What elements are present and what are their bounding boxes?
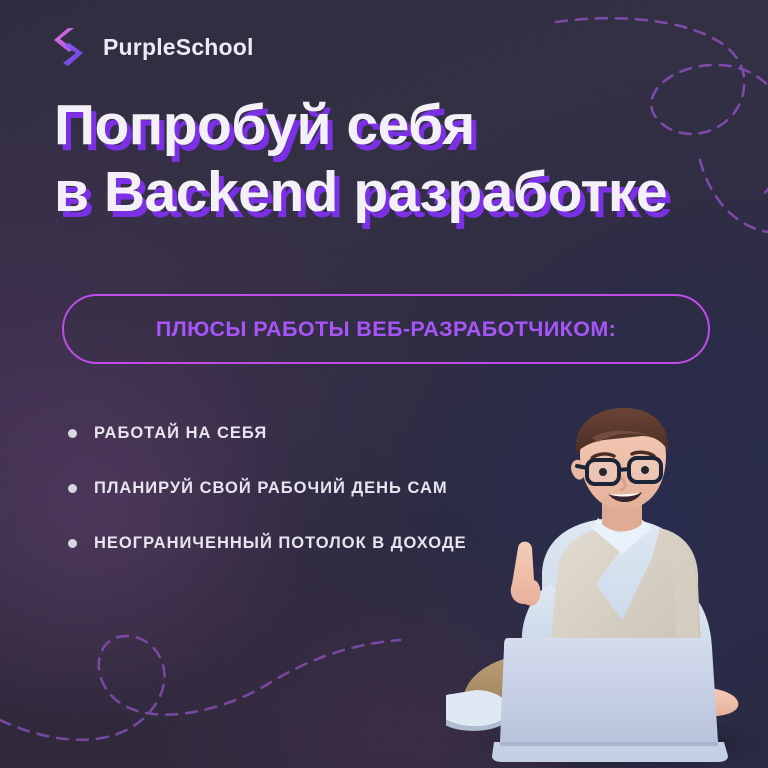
list-item-label: РАБОТАЙ НА СЕБЯ xyxy=(94,424,267,443)
bullet-dot-icon xyxy=(68,484,77,493)
list-item: РАБОТАЙ НА СЕБЯ xyxy=(68,424,467,443)
eye-left xyxy=(599,468,607,476)
headline-line-1: Попробуй себя xyxy=(54,92,734,159)
seated-developer-illustration xyxy=(446,408,768,768)
headline-line-2: в Backend разработке xyxy=(54,159,734,226)
bullet-dot-icon xyxy=(68,429,77,438)
benefits-pill: ПЛЮСЫ РАБОТЫ ВЕБ-РАЗРАБОТЧИКОМ: xyxy=(62,294,710,364)
promo-poster: PurpleSchool Попробуй себя в Backend раз… xyxy=(0,0,768,768)
bottom-left-dashed-curve xyxy=(0,636,400,740)
list-item-label: НЕОГРАНИЧЕННЫЙ ПОТОЛОК В ДОХОДЕ xyxy=(94,534,467,553)
benefits-pill-label: ПЛЮСЫ РАБОТЫ ВЕБ-РАЗРАБОТЧИКОМ: xyxy=(156,317,616,342)
benefits-list: РАБОТАЙ НА СЕБЯ ПЛАНИРУЙ СВОЙ РАБОЧИЙ ДЕ… xyxy=(68,424,467,553)
list-item: ПЛАНИРУЙ СВОЙ РАБОЧИЙ ДЕНЬ САМ xyxy=(68,479,467,498)
brand-name: PurpleSchool xyxy=(103,34,254,61)
bullet-dot-icon xyxy=(68,539,77,548)
seated-developer-graphic xyxy=(446,408,768,768)
laptop-screen xyxy=(500,638,718,742)
purpleschool-chevron-logo-icon xyxy=(53,27,89,67)
laptop-hinge xyxy=(500,742,718,746)
list-item: НЕОГРАНИЧЕННЫЙ ПОТОЛОК В ДОХОДЕ xyxy=(68,534,467,553)
headline: Попробуй себя в Backend разработке xyxy=(54,92,734,225)
raised-hand xyxy=(511,542,541,606)
list-item-label: ПЛАНИРУЙ СВОЙ РАБОЧИЙ ДЕНЬ САМ xyxy=(94,479,448,498)
brand-logo[interactable]: PurpleSchool xyxy=(53,27,254,67)
eye-right xyxy=(641,466,649,474)
